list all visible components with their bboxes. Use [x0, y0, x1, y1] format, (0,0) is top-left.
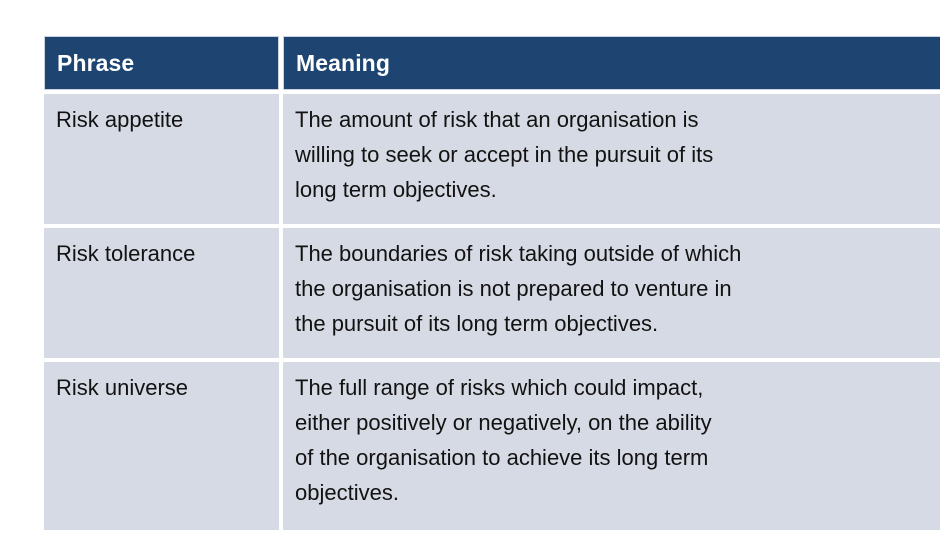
page-canvas: Phrase Meaning Risk appetite The amount … [0, 0, 940, 488]
table-row: Risk universe The full range of risks wh… [44, 362, 940, 530]
table-header: Phrase Meaning [44, 36, 940, 90]
meaning-line: willing to seek or accept in the pursuit… [295, 137, 932, 172]
meaning-line: the organisation is not prepared to vent… [295, 271, 932, 306]
table-body: Risk appetite The amount of risk that an… [44, 94, 940, 530]
meaning-line: The amount of risk that an organisation … [295, 102, 932, 137]
meaning-line: objectives. [295, 475, 932, 510]
meaning-line: The full range of risks which could impa… [295, 370, 932, 405]
cell-phrase: Risk tolerance [44, 228, 279, 358]
meaning-line: The boundaries of risk taking outside of… [295, 236, 932, 271]
meaning-line: of the organisation to achieve its long … [295, 440, 932, 475]
meaning-line: the pursuit of its long term objectives. [295, 306, 932, 341]
risk-glossary-table: Phrase Meaning Risk appetite The amount … [40, 32, 940, 534]
table-row: Risk appetite The amount of risk that an… [44, 94, 940, 224]
table-row: Risk tolerance The boundaries of risk ta… [44, 228, 940, 358]
cell-meaning: The full range of risks which could impa… [283, 362, 940, 530]
cell-phrase: Risk appetite [44, 94, 279, 224]
table-header-row: Phrase Meaning [44, 36, 940, 90]
column-header-meaning: Meaning [283, 36, 940, 90]
column-header-phrase: Phrase [44, 36, 279, 90]
cell-phrase: Risk universe [44, 362, 279, 530]
cell-meaning: The amount of risk that an organisation … [283, 94, 940, 224]
cell-meaning: The boundaries of risk taking outside of… [283, 228, 940, 358]
meaning-line: long term objectives. [295, 172, 932, 207]
meaning-line: either positively or negatively, on the … [295, 405, 932, 440]
